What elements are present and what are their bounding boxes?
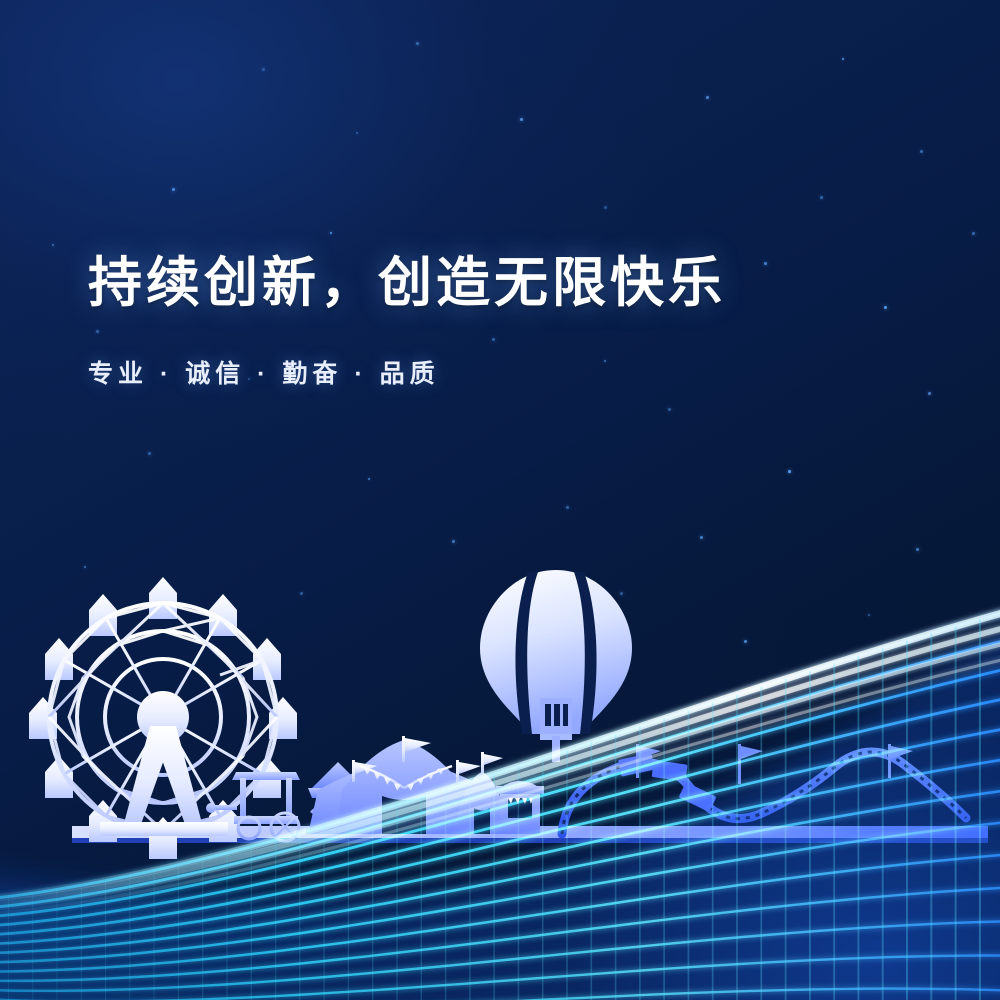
page-title: 持续创新，创造无限快乐: [88, 252, 726, 316]
neon-mesh-wave: [0, 0, 1000, 1000]
page-subtitle: 专业 · 诚信 · 勤奋 · 品质: [88, 354, 726, 390]
poster-canvas: 持续创新，创造无限快乐 专业 · 诚信 · 勤奋 · 品质: [0, 0, 1000, 1000]
poster-copy: 持续创新，创造无限快乐 专业 · 诚信 · 勤奋 · 品质: [88, 252, 726, 390]
